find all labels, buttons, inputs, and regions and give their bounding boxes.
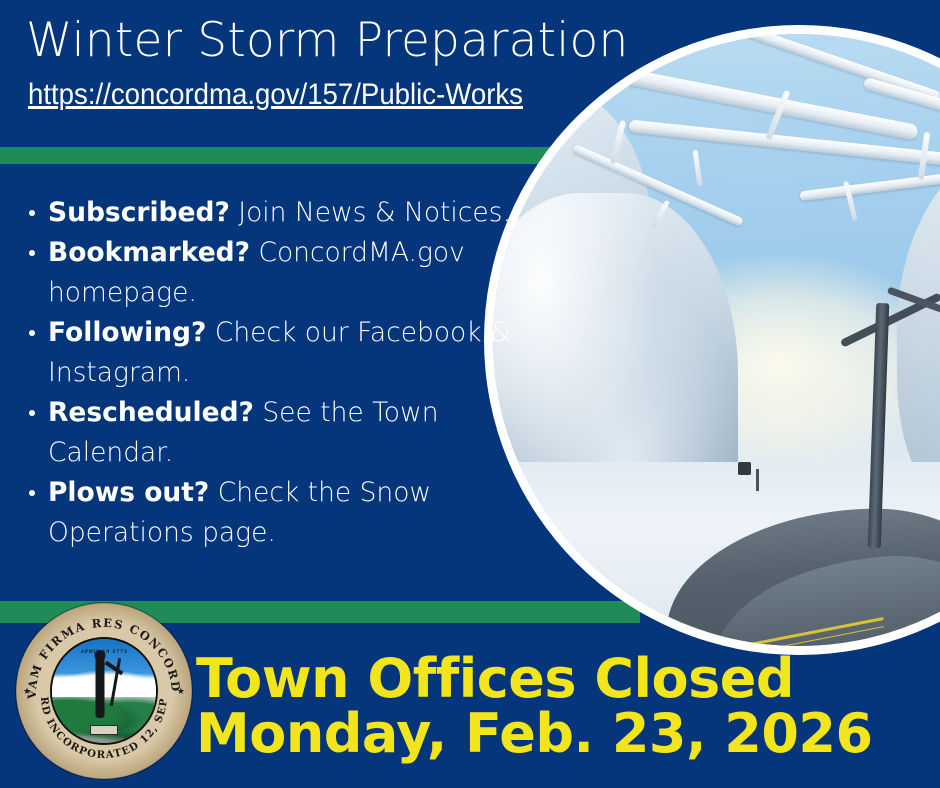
list-item: Bookmarked? ConcordMA.gov homepage. [22,233,522,313]
seal-motto-top: QVAM FIRMA RES CONCORDIA [16,603,183,700]
winter-storm-preparation-poster: Winter Storm Preparation https://concord… [0,0,940,788]
town-seal: APRIL 19 1775 QVAM FIRMA RES CONCORDIA C… [16,603,192,779]
seal-curved-text: QVAM FIRMA RES CONCORDIA CONCORD INCORPO… [16,603,192,779]
list-item-rest: Join News & Notices. [230,197,511,228]
closure-line-2: Monday, Feb. 23, 2026 [196,706,873,761]
road-sign-post [756,469,759,491]
list-item-lead: Following? [48,317,206,348]
winter-road-photo [493,34,940,646]
list-item: Subscribed? Join News & Notices. [22,193,522,233]
road-sign [738,462,751,475]
preparation-checklist: Subscribed? Join News & Notices. Bookmar… [22,193,522,553]
seal-star-left-icon: ★ [23,687,31,697]
closure-announcement: Town Offices Closed Monday, Feb. 23, 202… [196,651,873,761]
list-item-lead: Plows out? [48,477,209,508]
list-item-lead: Rescheduled? [48,397,254,428]
list-item-lead: Subscribed? [48,197,230,228]
photo-circle-frame [484,25,940,655]
list-item-lead: Bookmarked? [48,237,250,268]
page-title: Winter Storm Preparation [26,16,628,65]
list-item: Rescheduled? See the Town Calendar. [22,393,522,473]
seal-star-right-icon: ★ [177,687,185,697]
closure-line-1: Town Offices Closed [196,647,794,710]
public-works-url-link[interactable]: https://concordma.gov/157/Public-Works [28,78,523,111]
list-item: Plows out? Check the Snow Operations pag… [22,473,522,553]
list-item: Following? Check our Facebook & Instagra… [22,313,522,393]
